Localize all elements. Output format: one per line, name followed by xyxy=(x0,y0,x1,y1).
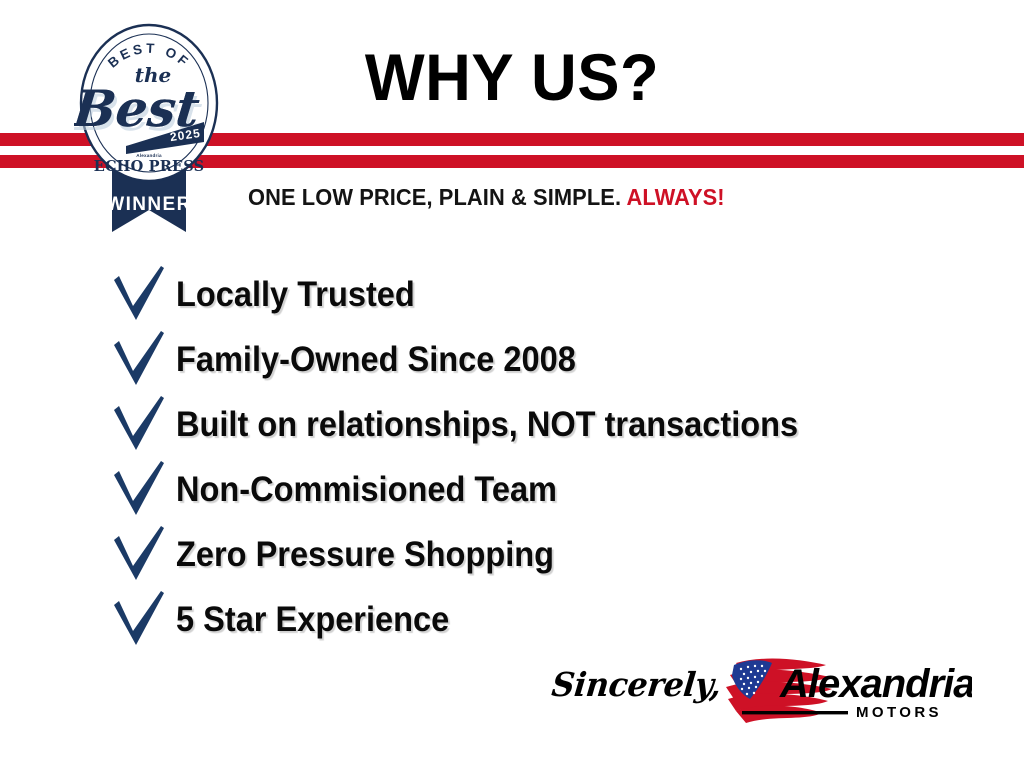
checkmark-icon xyxy=(104,526,176,584)
signoff-text: Sincerely, xyxy=(550,665,723,704)
list-item-label: Non-Commisioned Team xyxy=(176,472,557,507)
benefit-list: Locally Trusted Family-Owned Since 2008 … xyxy=(104,262,1004,652)
checkmark-icon xyxy=(104,266,176,324)
footer: Sincerely, xyxy=(552,655,972,735)
logo-rule xyxy=(742,711,848,714)
list-item: Built on relationships, NOT transactions xyxy=(104,392,1004,457)
list-item: Family-Owned Since 2008 xyxy=(104,327,1004,392)
brand-name-label: Alexandria xyxy=(779,662,972,706)
list-item: Locally Trusted xyxy=(104,262,1004,327)
checkmark-icon xyxy=(104,331,176,389)
list-item-label: Locally Trusted xyxy=(176,277,415,312)
alexandria-motors-logo: Alexandria MOTORS xyxy=(714,655,972,733)
why-us-slide: { "slide": { "title": "WHY US?", "backgr… xyxy=(0,0,1024,768)
list-item: 5 Star Experience xyxy=(104,587,1004,652)
tagline-main: ONE LOW PRICE, PLAIN & SIMPLE. xyxy=(248,184,621,210)
list-item: Non-Commisioned Team xyxy=(104,457,1004,522)
list-item-label: Family-Owned Since 2008 xyxy=(176,342,576,377)
checkmark-icon xyxy=(104,591,176,649)
winner-ribbon-label: WINNER xyxy=(106,194,191,215)
checkmark-icon xyxy=(104,461,176,519)
tagline: ONE LOW PRICE, PLAIN & SIMPLE. ALWAYS! xyxy=(248,184,725,211)
tagline-emphasis: ALWAYS! xyxy=(626,184,724,210)
brand-subtitle-label: MOTORS xyxy=(856,704,942,721)
list-item: Zero Pressure Shopping xyxy=(104,522,1004,587)
list-item-label: Built on relationships, NOT transactions xyxy=(176,407,798,442)
list-item-label: Zero Pressure Shopping xyxy=(176,537,554,572)
list-item-label: 5 Star Experience xyxy=(176,602,449,637)
checkmark-icon xyxy=(104,396,176,454)
badge-publication-label: ECHO PRESS xyxy=(94,158,205,175)
best-of-the-best-winner-badge: WINNER BEST OF the Best Best Best 2025 A… xyxy=(74,18,224,233)
